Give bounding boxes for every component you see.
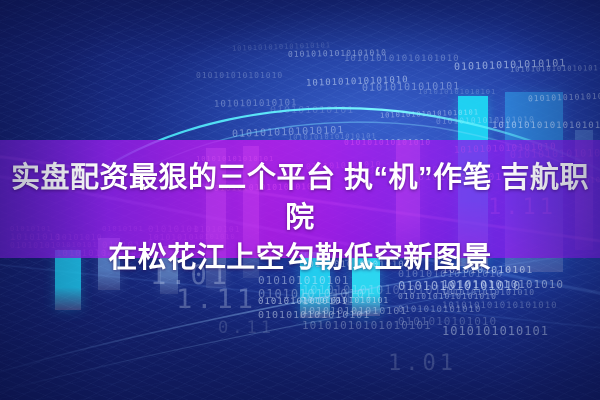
edge-vignette: [0, 0, 600, 400]
banner-image: 1010101010101010101010101010101010101010…: [0, 0, 600, 400]
